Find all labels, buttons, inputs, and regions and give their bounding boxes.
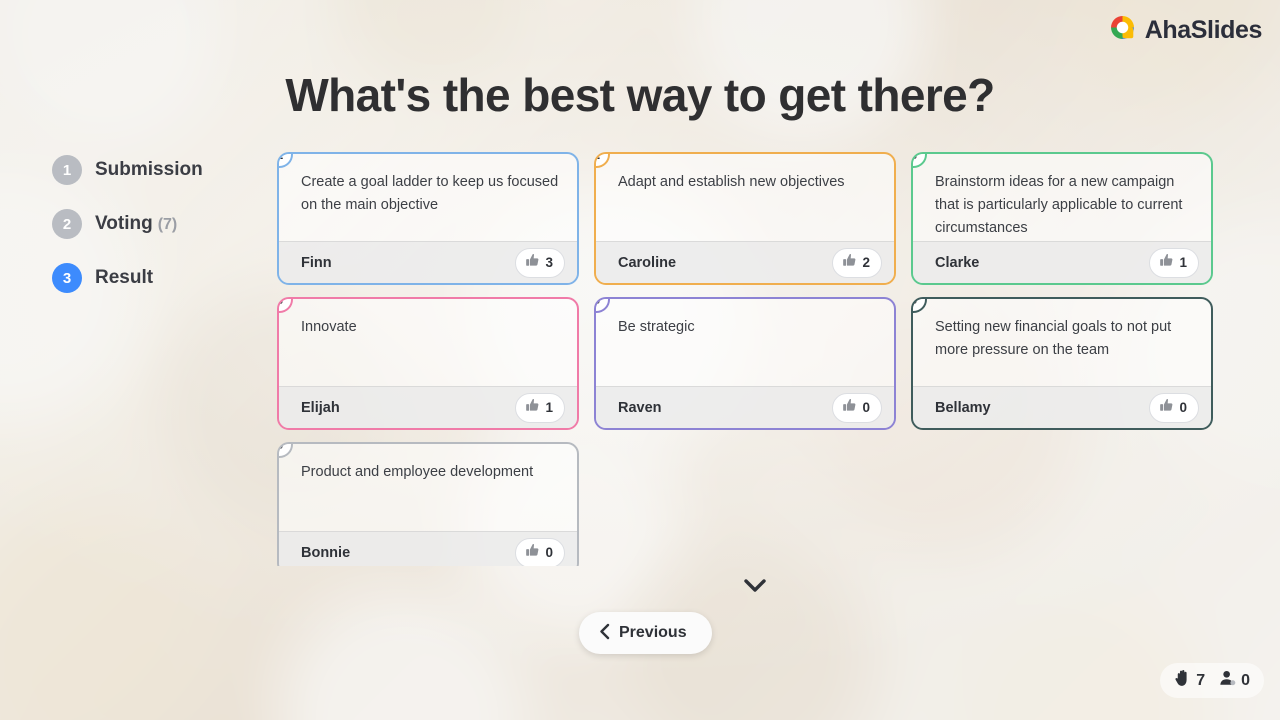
step-label: Voting(7) — [95, 213, 177, 235]
idea-author: Clarke — [935, 255, 979, 271]
step-navigation: 1 Submission 2 Voting(7) 3 Result — [52, 155, 203, 293]
vote-pill[interactable]: 1 — [1149, 248, 1199, 278]
idea-author: Elijah — [301, 400, 340, 416]
vote-count: 0 — [545, 545, 553, 560]
step-label: Submission — [95, 159, 203, 181]
step-number-badge: 3 — [52, 263, 82, 293]
idea-card[interactable]: 2Adapt and establish new objectivesCarol… — [594, 152, 896, 285]
thumbs-up-icon — [842, 253, 857, 273]
person-icon — [1219, 669, 1236, 692]
vote-count: 3 — [545, 255, 553, 270]
thumbs-up-icon — [525, 543, 540, 563]
ideas-grid: 1Create a goal ladder to keep us focused… — [270, 146, 1225, 566]
thumbs-up-icon — [1159, 253, 1174, 273]
idea-card-footer: Elijah1 — [279, 386, 577, 428]
thumbs-up-icon — [842, 398, 857, 418]
step-label: Result — [95, 267, 153, 289]
idea-card[interactable]: 5Product and employee developmentBonnie0 — [277, 442, 579, 566]
hands-raised-status: 7 — [1174, 669, 1205, 692]
idea-card[interactable]: 3Brainstorm ideas for a new campaign tha… — [911, 152, 1213, 285]
chevron-down-icon[interactable] — [741, 573, 769, 599]
vote-count: 2 — [862, 255, 870, 270]
ahaslides-mark-icon — [1109, 14, 1136, 46]
idea-text: Innovate — [279, 299, 577, 386]
previous-button[interactable]: Previous — [579, 612, 712, 654]
idea-author: Caroline — [618, 255, 676, 271]
idea-card[interactable]: 5Setting new financial goals to not put … — [911, 297, 1213, 430]
idea-card-footer: Caroline2 — [596, 241, 894, 283]
vote-count: 0 — [862, 400, 870, 415]
idea-text: Product and employee development — [279, 444, 577, 531]
vote-count: 1 — [1179, 255, 1187, 270]
vote-count: 0 — [1179, 400, 1187, 415]
idea-text: Be strategic — [596, 299, 894, 386]
vote-pill[interactable]: 1 — [515, 393, 565, 423]
idea-author: Bellamy — [935, 400, 991, 416]
idea-card[interactable]: 1Create a goal ladder to keep us focused… — [277, 152, 579, 285]
vote-pill[interactable]: 0 — [832, 393, 882, 423]
idea-text: Brainstorm ideas for a new campaign that… — [913, 154, 1211, 241]
sidebar-item-voting[interactable]: 2 Voting(7) — [52, 209, 203, 239]
step-number-badge: 2 — [52, 209, 82, 239]
idea-card[interactable]: 5Be strategicRaven0 — [594, 297, 896, 430]
idea-card-footer: Bonnie0 — [279, 531, 577, 566]
vote-count: 1 — [545, 400, 553, 415]
idea-card[interactable]: 3InnovateElijah1 — [277, 297, 579, 430]
raised-hand-icon — [1174, 669, 1191, 692]
idea-author: Raven — [618, 400, 662, 416]
idea-text: Adapt and establish new objectives — [596, 154, 894, 241]
vote-pill[interactable]: 3 — [515, 248, 565, 278]
vote-pill[interactable]: 0 — [1149, 393, 1199, 423]
thumbs-up-icon — [1159, 398, 1174, 418]
status-badge: 7 0 — [1160, 663, 1264, 698]
idea-card-footer: Clarke1 — [913, 241, 1211, 283]
ideas-scroll-viewport[interactable]: 1Create a goal ladder to keep us focused… — [270, 146, 1225, 566]
page-title: What's the best way to get there? — [0, 68, 1280, 122]
thumbs-up-icon — [525, 398, 540, 418]
hands-raised-count: 7 — [1196, 672, 1205, 690]
participants-status: 0 — [1219, 669, 1250, 692]
sidebar-item-result[interactable]: 3 Result — [52, 263, 203, 293]
idea-card-footer: Raven0 — [596, 386, 894, 428]
idea-text: Setting new financial goals to not put m… — [913, 299, 1211, 386]
previous-button-label: Previous — [619, 624, 687, 642]
ahaslides-logo: AhaSlides — [1109, 14, 1262, 46]
idea-card-footer: Bellamy0 — [913, 386, 1211, 428]
idea-author: Finn — [301, 255, 332, 271]
thumbs-up-icon — [525, 253, 540, 273]
idea-card-footer: Finn3 — [279, 241, 577, 283]
slide-stage: AhaSlides What's the best way to get the… — [0, 0, 1280, 720]
step-number-badge: 1 — [52, 155, 82, 185]
participants-count: 0 — [1241, 672, 1250, 690]
vote-pill[interactable]: 2 — [832, 248, 882, 278]
voting-count: (7) — [158, 216, 178, 233]
idea-author: Bonnie — [301, 545, 350, 561]
idea-text: Create a goal ladder to keep us focused … — [279, 154, 577, 241]
chevron-left-icon — [599, 623, 610, 643]
vote-pill[interactable]: 0 — [515, 538, 565, 567]
sidebar-item-submission[interactable]: 1 Submission — [52, 155, 203, 185]
ahaslides-wordmark: AhaSlides — [1145, 16, 1262, 45]
